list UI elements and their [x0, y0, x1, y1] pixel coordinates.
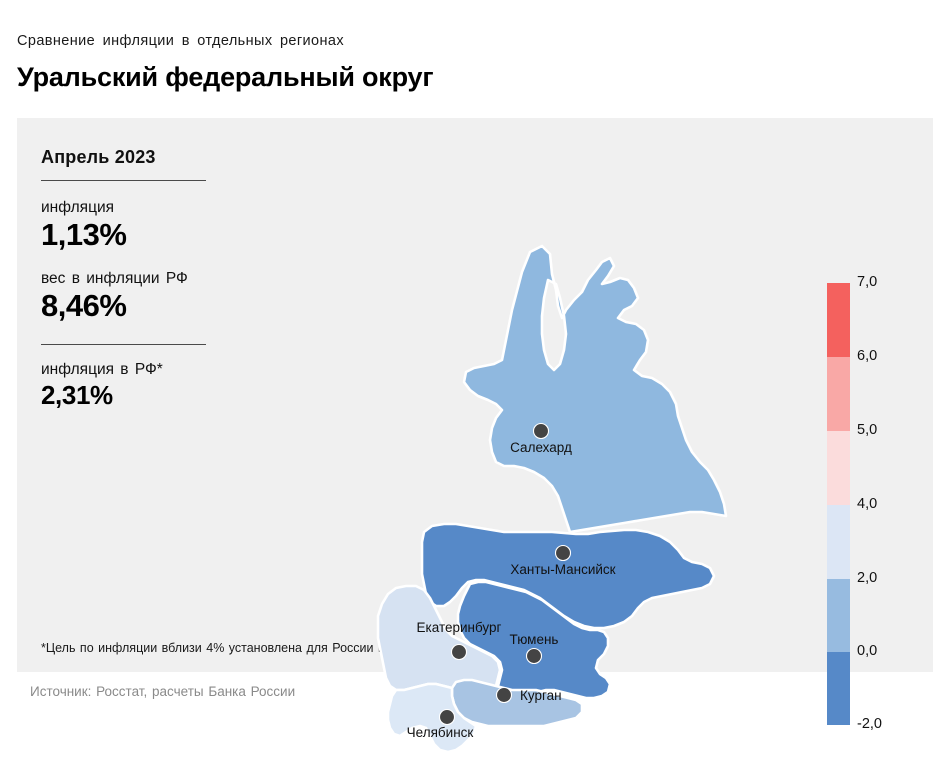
stats-block: Апрель 2023 инфляция 1,13% вес в инфляци…	[41, 147, 251, 411]
legend-tick-4: 4,0	[857, 496, 877, 512]
divider-bottom	[41, 344, 206, 345]
weight-label: вес в инфляции РФ	[41, 270, 251, 288]
legend-band-0-2	[827, 579, 850, 652]
city-label-ekaterinburg: Екатеринбург	[417, 620, 502, 635]
map-container: Салехард Ханты-Мансийск Тюмень Екатеринб…	[352, 240, 812, 760]
color-scale-legend: 7,0 6,0 5,0 4,0 2,0 0,0 -2,0	[827, 283, 937, 725]
city-dot-kurgan[interactable]	[497, 688, 512, 703]
weight-value: 8,46%	[41, 290, 251, 323]
legend-band-2-4	[827, 505, 850, 579]
inflation-value: 1,13%	[41, 219, 251, 252]
inflation-label: инфляция	[41, 199, 251, 217]
region-yamalo-nenets[interactable]	[464, 246, 726, 532]
city-label-salekhard: Салехард	[510, 440, 572, 455]
period-label: Апрель 2023	[41, 147, 251, 168]
legend-tick-2: 2,0	[857, 570, 877, 586]
legend-tick-5: 5,0	[857, 422, 877, 438]
source-note: Источник: Росстат, расчеты Банка России	[30, 684, 295, 699]
city-dot-tyumen[interactable]	[527, 649, 542, 664]
header: Сравнение инфляции в отдельных регионах …	[17, 33, 817, 93]
ural-federal-district-map: Салехард Ханты-Мансийск Тюмень Екатеринб…	[352, 240, 812, 760]
rf-inflation-label: инфляция в РФ*	[41, 361, 251, 379]
city-label-chelyabinsk: Челябинск	[407, 725, 474, 740]
legend-band-4-5	[827, 431, 850, 505]
city-dot-ekaterinburg[interactable]	[452, 645, 467, 660]
city-dot-chelyabinsk[interactable]	[440, 710, 455, 725]
legend-band-5-6	[827, 357, 850, 431]
rf-inflation-value: 2,31%	[41, 380, 251, 411]
legend-band-minus2-0	[827, 652, 850, 725]
divider-top	[41, 180, 206, 181]
city-label-khanty-mansiysk: Ханты-Мансийск	[510, 562, 615, 577]
legend-band-6-7	[827, 283, 850, 357]
city-label-kurgan: Курган	[520, 688, 562, 703]
legend-tick-0: 0,0	[857, 643, 877, 659]
subtitle: Сравнение инфляции в отдельных регионах	[17, 33, 817, 49]
page-title: Уральский федеральный округ	[17, 62, 817, 93]
legend-tick-6: 6,0	[857, 348, 877, 364]
infographic-panel: Апрель 2023 инфляция 1,13% вес в инфляци…	[17, 118, 933, 672]
legend-tick-7: 7,0	[857, 274, 877, 290]
city-dot-salekhard[interactable]	[534, 424, 549, 439]
legend-tick-minus2: -2,0	[857, 716, 882, 732]
city-dot-khanty-mansiysk[interactable]	[556, 546, 571, 561]
city-label-tyumen: Тюмень	[510, 632, 559, 647]
